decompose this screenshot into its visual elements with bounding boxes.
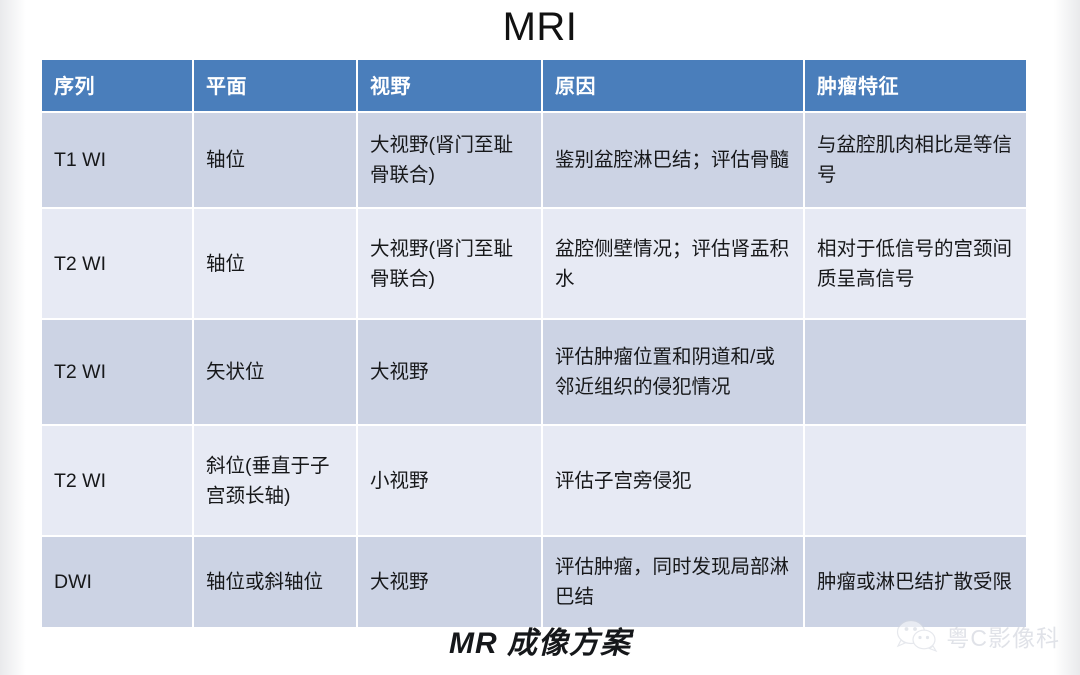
wechat-icon <box>896 619 938 653</box>
cell-fov: 小视野 <box>358 426 541 535</box>
table-header: 序列 平面 视野 原因 肿瘤特征 <box>42 60 1026 111</box>
table-row: DWI 轴位或斜轴位 大视野 评估肿瘤，同时发现局部淋巴结 肿瘤或淋巴结扩散受限 <box>42 537 1026 627</box>
cell-reason: 盆腔侧壁情况；评估肾盂积水 <box>543 209 803 318</box>
mri-protocol-table: 序列 平面 视野 原因 肿瘤特征 T1 WI 轴位 大视野(肾门至耻骨联合) 鉴… <box>40 58 1028 629</box>
cell-reason: 评估肿瘤位置和阴道和/或邻近组织的侵犯情况 <box>543 320 803 424</box>
table-header-row: 序列 平面 视野 原因 肿瘤特征 <box>42 60 1026 111</box>
cell-sequence: T1 WI <box>42 113 192 207</box>
slide-canvas: MRI 序列 平面 视野 原因 肿瘤特征 T1 WI 轴位 大视野(肾门至耻骨联 <box>0 0 1080 675</box>
column-header-plane: 平面 <box>194 60 356 111</box>
cell-fov: 大视野 <box>358 320 541 424</box>
column-header-fov: 视野 <box>358 60 541 111</box>
cell-reason: 评估肿瘤，同时发现局部淋巴结 <box>543 537 803 627</box>
mri-protocol-table-wrapper: 序列 平面 视野 原因 肿瘤特征 T1 WI 轴位 大视野(肾门至耻骨联合) 鉴… <box>40 58 1016 629</box>
cell-plane: 轴位 <box>194 209 356 318</box>
column-header-sequence: 序列 <box>42 60 192 111</box>
page-title: MRI <box>0 2 1080 52</box>
cell-reason: 评估子宫旁侵犯 <box>543 426 803 535</box>
cell-sequence: T2 WI <box>42 209 192 318</box>
cell-plane: 轴位 <box>194 113 356 207</box>
watermark-label: 粤C影像科 <box>946 619 1060 653</box>
table-row: T2 WI 轴位 大视野(肾门至耻骨联合) 盆腔侧壁情况；评估肾盂积水 相对于低… <box>42 209 1026 318</box>
cell-fov: 大视野 <box>358 537 541 627</box>
cell-plane: 矢状位 <box>194 320 356 424</box>
column-header-tumor-feature: 肿瘤特征 <box>805 60 1026 111</box>
cell-sequence: T2 WI <box>42 320 192 424</box>
cell-tumor-feature: 与盆腔肌肉相比是等信号 <box>805 113 1026 207</box>
cell-fov: 大视野(肾门至耻骨联合) <box>358 209 541 318</box>
cell-reason: 鉴别盆腔淋巴结；评估骨髓 <box>543 113 803 207</box>
table-row: T1 WI 轴位 大视野(肾门至耻骨联合) 鉴别盆腔淋巴结；评估骨髓 与盆腔肌肉… <box>42 113 1026 207</box>
cell-sequence: T2 WI <box>42 426 192 535</box>
watermark: 粤C影像科 <box>896 619 1060 653</box>
table-row: T2 WI 斜位(垂直于子宫颈长轴) 小视野 评估子宫旁侵犯 <box>42 426 1026 535</box>
table-row: T2 WI 矢状位 大视野 评估肿瘤位置和阴道和/或邻近组织的侵犯情况 <box>42 320 1026 424</box>
cell-plane: 轴位或斜轴位 <box>194 537 356 627</box>
cell-sequence: DWI <box>42 537 192 627</box>
cell-plane: 斜位(垂直于子宫颈长轴) <box>194 426 356 535</box>
cell-tumor-feature <box>805 426 1026 535</box>
cell-tumor-feature: 相对于低信号的宫颈间质呈高信号 <box>805 209 1026 318</box>
column-header-reason: 原因 <box>543 60 803 111</box>
cell-fov: 大视野(肾门至耻骨联合) <box>358 113 541 207</box>
cell-tumor-feature: 肿瘤或淋巴结扩散受限 <box>805 537 1026 627</box>
cell-tumor-feature <box>805 320 1026 424</box>
table-body: T1 WI 轴位 大视野(肾门至耻骨联合) 鉴别盆腔淋巴结；评估骨髓 与盆腔肌肉… <box>42 113 1026 627</box>
